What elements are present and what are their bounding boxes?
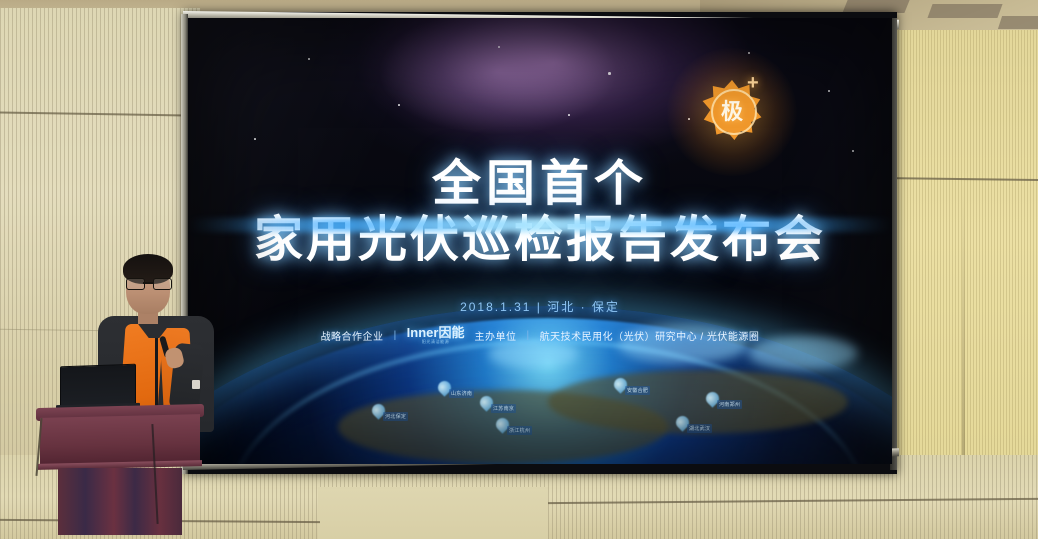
- title-light-beam: [188, 218, 892, 232]
- lectern-base: [58, 468, 182, 535]
- slide-credits: 战略合作企业 | Inner因能 阳光清洁能源 主办单位 | 航天技术民用化（光…: [188, 326, 892, 344]
- lectern-front-panel: [40, 414, 200, 466]
- glasses-bridge: [143, 282, 153, 284]
- conference-photo-scene: 河北保定 山东济南 江苏南京 浙江杭州 安徽合肥 河南郑州 湖北武汉: [0, 0, 1038, 539]
- lectern: [36, 396, 204, 539]
- slide-divider: |: [537, 300, 542, 314]
- map-pin-label: 湖北武汉: [687, 424, 712, 433]
- presenter-glasses: [126, 278, 170, 288]
- map-pin-label: 浙江杭州: [507, 426, 532, 435]
- star: [254, 138, 256, 140]
- map-pin-label: 山东济南: [449, 389, 474, 398]
- partner-logo: Inner因能 阳光清洁能源: [407, 326, 465, 344]
- map-pin: 安徽合肥: [614, 378, 627, 391]
- map-pin: 河南郑州: [706, 392, 719, 405]
- badge-plus-icon: +: [747, 72, 759, 95]
- map-pin: 浙江杭州: [496, 418, 509, 431]
- glasses-lens-right: [153, 278, 172, 290]
- partner-logo-tagline: 阳光清洁能源: [422, 340, 450, 344]
- badge-character: 极: [711, 89, 753, 131]
- ceiling-tile: [998, 16, 1038, 29]
- star: [308, 58, 310, 60]
- organizer-text: 航天技术民用化（光伏）研究中心 / 光伏能源圈: [540, 328, 760, 343]
- map-pin: 河北保定: [372, 404, 385, 417]
- star: [828, 90, 830, 92]
- presenter-name-badge: [192, 380, 200, 389]
- presentation-screen: 河北保定 山东济南 江苏南京 浙江杭州 安徽合肥 河南郑州 湖北武汉: [188, 18, 892, 464]
- star: [568, 114, 570, 116]
- star: [608, 72, 611, 75]
- partner-logo-text: Inner因能: [407, 326, 465, 339]
- map-pin-label: 安徽合肥: [625, 386, 650, 395]
- map-pin-label: 河北保定: [383, 412, 408, 421]
- ceiling-tile: [927, 4, 1002, 18]
- earth-cloud: [488, 340, 578, 368]
- map-pin: 山东济南: [438, 381, 451, 394]
- star: [852, 150, 854, 152]
- credits-separator: |: [526, 330, 529, 341]
- star: [398, 104, 400, 106]
- slide-location: 河北 · 保定: [547, 300, 620, 314]
- event-logo-badge: 极 +: [693, 70, 771, 156]
- star: [498, 46, 500, 48]
- organizer-label: 主办单位: [474, 328, 516, 343]
- glasses-lens-left: [126, 278, 145, 290]
- slide-title-block: 全国首个 家用光伏巡检报告发布会: [188, 158, 892, 268]
- map-pin-label: 江苏南京: [491, 404, 516, 413]
- lower-wall-flat-panel: [318, 487, 548, 539]
- slide-title-line-1: 全国首个: [188, 158, 892, 211]
- credits-separator: |: [394, 330, 397, 341]
- slide-date-location: 2018.1.31 | 河北 · 保定: [188, 298, 892, 315]
- map-pin: 湖北武汉: [676, 416, 689, 429]
- slide-date: 2018.1.31: [460, 300, 531, 314]
- partner-label: 战略合作企业: [321, 328, 384, 343]
- map-pin: 江苏南京: [480, 396, 493, 409]
- map-pin-label: 河南郑州: [717, 400, 742, 409]
